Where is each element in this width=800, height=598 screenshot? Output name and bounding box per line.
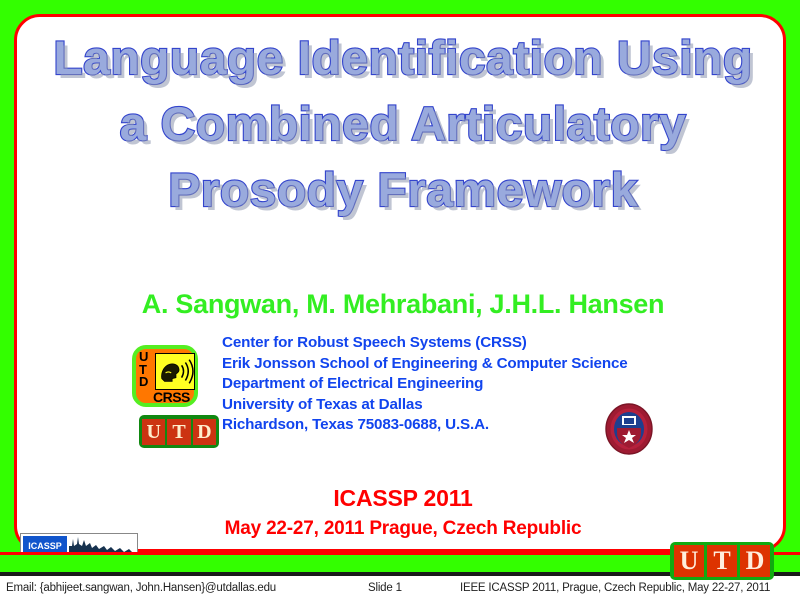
utd-br-letter-d: D bbox=[740, 545, 770, 577]
footer-slide-number: Slide 1 bbox=[368, 582, 402, 594]
head-soundwave-icon bbox=[156, 354, 194, 389]
utd-logo: U T D bbox=[139, 415, 219, 448]
footer-conference-info: IEEE ICASSP 2011, Prague, Czech Republic… bbox=[460, 582, 770, 594]
svg-text:ICASSP: ICASSP bbox=[28, 541, 62, 551]
affiliation-line-5: Richardson, Texas 75083-0688, U.S.A. bbox=[222, 415, 652, 436]
affiliation-line-1: Center for Robust Speech Systems (CRSS) bbox=[222, 333, 652, 354]
conference-block: ICASSP 2011 May 22-27, 2011 Prague, Czec… bbox=[17, 485, 786, 540]
affiliation-block: Center for Robust Speech Systems (CRSS) … bbox=[222, 333, 652, 436]
utd-logo-bottom-right: U T D bbox=[670, 542, 774, 580]
crss-speech-icon bbox=[155, 353, 195, 390]
crss-utd-vertical-text: UTD bbox=[139, 351, 148, 389]
footer-email: Email: {abhijeet.sangwan, John.Hansen}@u… bbox=[6, 582, 276, 594]
authors-line: A. Sangwan, M. Mehrabani, J.H.L. Hansen bbox=[17, 289, 786, 320]
conference-name: ICASSP 2011 bbox=[17, 485, 786, 512]
utd-letter-t: T bbox=[167, 419, 190, 445]
ut-dallas-seal-logo bbox=[605, 403, 653, 455]
utd-letter-d: D bbox=[193, 419, 216, 445]
utd-br-letter-t: T bbox=[707, 545, 737, 577]
page-title: Language Identification Using a Combined… bbox=[17, 25, 786, 223]
crss-logo-label: CRSS bbox=[153, 389, 190, 405]
affiliation-line-4: University of Texas at Dallas bbox=[222, 395, 652, 416]
title-line-1: Language Identification Using bbox=[14, 25, 786, 91]
crss-logo: UTD CRSS bbox=[132, 345, 198, 407]
title-line-3: Prosody Framework bbox=[14, 157, 786, 223]
title-line-2: a Combined Articulatory bbox=[14, 91, 786, 157]
utd-br-letter-u: U bbox=[674, 545, 704, 577]
affiliation-line-3: Department of Electrical Engineering bbox=[222, 374, 652, 395]
affiliation-line-2: Erik Jonsson School of Engineering & Com… bbox=[222, 354, 652, 375]
utd-letter-u: U bbox=[142, 419, 165, 445]
seal-icon bbox=[605, 403, 653, 455]
slide-frame: Language Identification Using a Combined… bbox=[14, 14, 786, 552]
